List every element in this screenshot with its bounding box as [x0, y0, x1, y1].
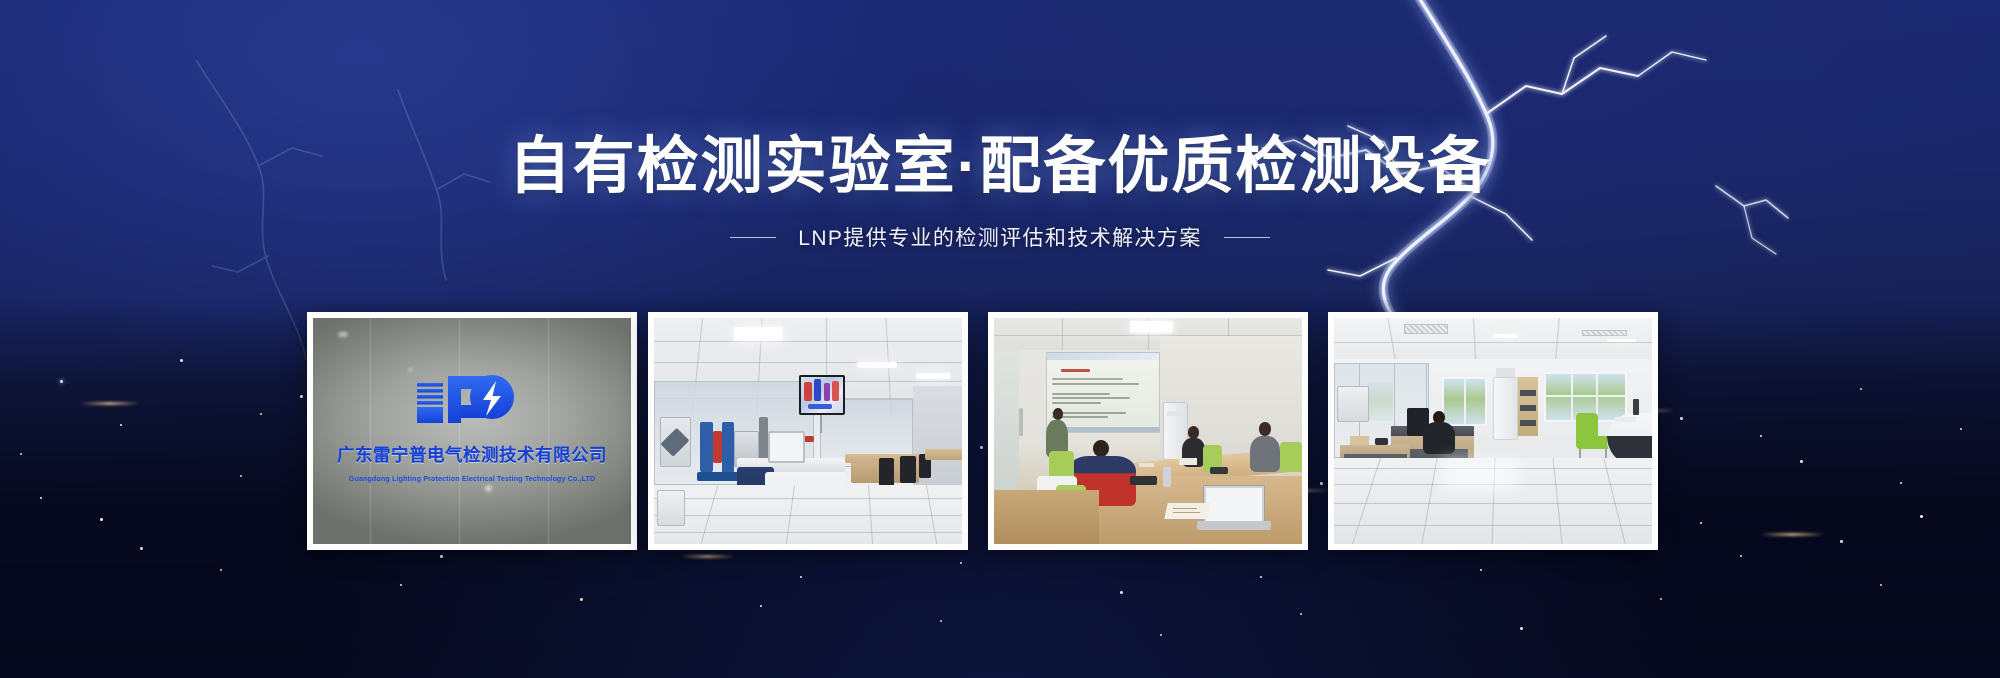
photo-card-gallery: 广东雷宁普电气检测技术有限公司 Guangdong Lighting Prote…: [0, 312, 2000, 557]
page-title: 自有检测实验室·配备优质检测设备: [0, 136, 2000, 198]
wall-surface: [313, 318, 631, 544]
window-icon: [1442, 377, 1487, 427]
floor: [654, 485, 962, 544]
shelf-icon: [1518, 377, 1537, 436]
laptop-icon: [1203, 485, 1265, 526]
photo-card-logo-wall[interactable]: 广东雷宁普电气检测技术有限公司 Guangdong Lighting Prote…: [307, 312, 637, 550]
water-bottle-icon: [1163, 467, 1170, 487]
banner-stage: 自有检测实验室·配备优质检测设备 LNP提供专业的检测评估和技术解决方案: [0, 0, 2000, 678]
logo-company-name-cn: 广东雷宁普电气检测技术有限公司: [337, 442, 607, 467]
rule-right-icon: [1224, 237, 1270, 238]
console-monitor: [768, 431, 805, 463]
wall-tv-icon: [799, 375, 845, 416]
rule-left-icon: [730, 237, 776, 238]
subtitle-row: LNP提供专业的检测评估和技术解决方案: [0, 222, 2000, 252]
photo-card-office-area[interactable]: [1328, 312, 1658, 550]
ceiling-vent-icon: [1404, 324, 1449, 335]
page-subtitle: LNP提供专业的检测评估和技术解决方案: [798, 222, 1201, 252]
meeting-room: [994, 318, 1302, 544]
logo-company-name-en: Guangdong Lighting Protection Electrical…: [349, 474, 596, 483]
photo-card-testing-lab[interactable]: [648, 312, 968, 550]
photo-logo-wall: 广东雷宁普电气检测技术有限公司 Guangdong Lighting Prote…: [313, 318, 631, 544]
photo-office-area: [1334, 318, 1652, 544]
door-glass: [994, 350, 1019, 490]
lnp-logo-icon: [413, 368, 531, 430]
lab-room: [654, 318, 962, 544]
photo-card-meeting-room[interactable]: [988, 312, 1308, 550]
office-room: [1334, 318, 1652, 544]
tiled-floor: [1334, 458, 1652, 544]
photo-testing-lab: [654, 318, 962, 544]
paper-document: [1165, 503, 1211, 519]
cabinet-icon: [1493, 377, 1518, 440]
photo-meeting-room: [994, 318, 1302, 544]
